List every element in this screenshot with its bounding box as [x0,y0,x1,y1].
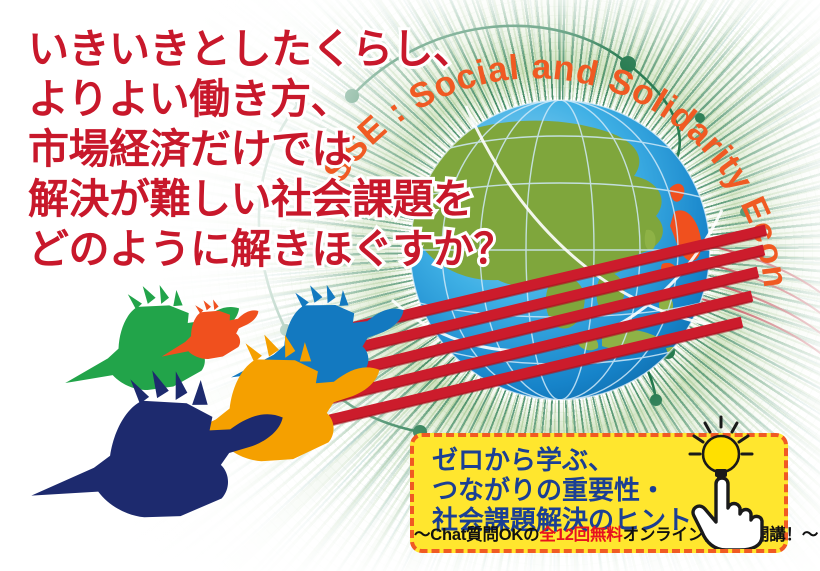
callout-line-1: ゼロから学ぶ、 [432,445,692,475]
headline-line-1: いきいきとしたくらし、 [28,24,548,74]
headline-line-5: どのように解きほぐすか？ [28,224,548,274]
poster-root: SSE : Social and Solidarity Economy [0,0,820,571]
lightbulb-icon [703,436,739,481]
page-title: いきいきとしたくらし、 よりよい働き方、 市場経済だけでは 解決が難しい社会課題… [28,24,548,274]
callout-subtitle-prefix: 〜Chat質問OKの [414,526,539,544]
headline-line-2: よりよい働き方、 [28,74,548,124]
callout-line-2: つながりの重要性・ [432,475,692,505]
bulb-and-hand-graphic [672,414,792,549]
callout-subtitle-highlight: 全12回無料 [539,526,622,544]
headline-line-3: 市場経済だけでは [28,124,548,174]
pointing-hand-icon [693,478,762,549]
headline-line-4: 解決が難しい社会課題を [28,174,548,224]
